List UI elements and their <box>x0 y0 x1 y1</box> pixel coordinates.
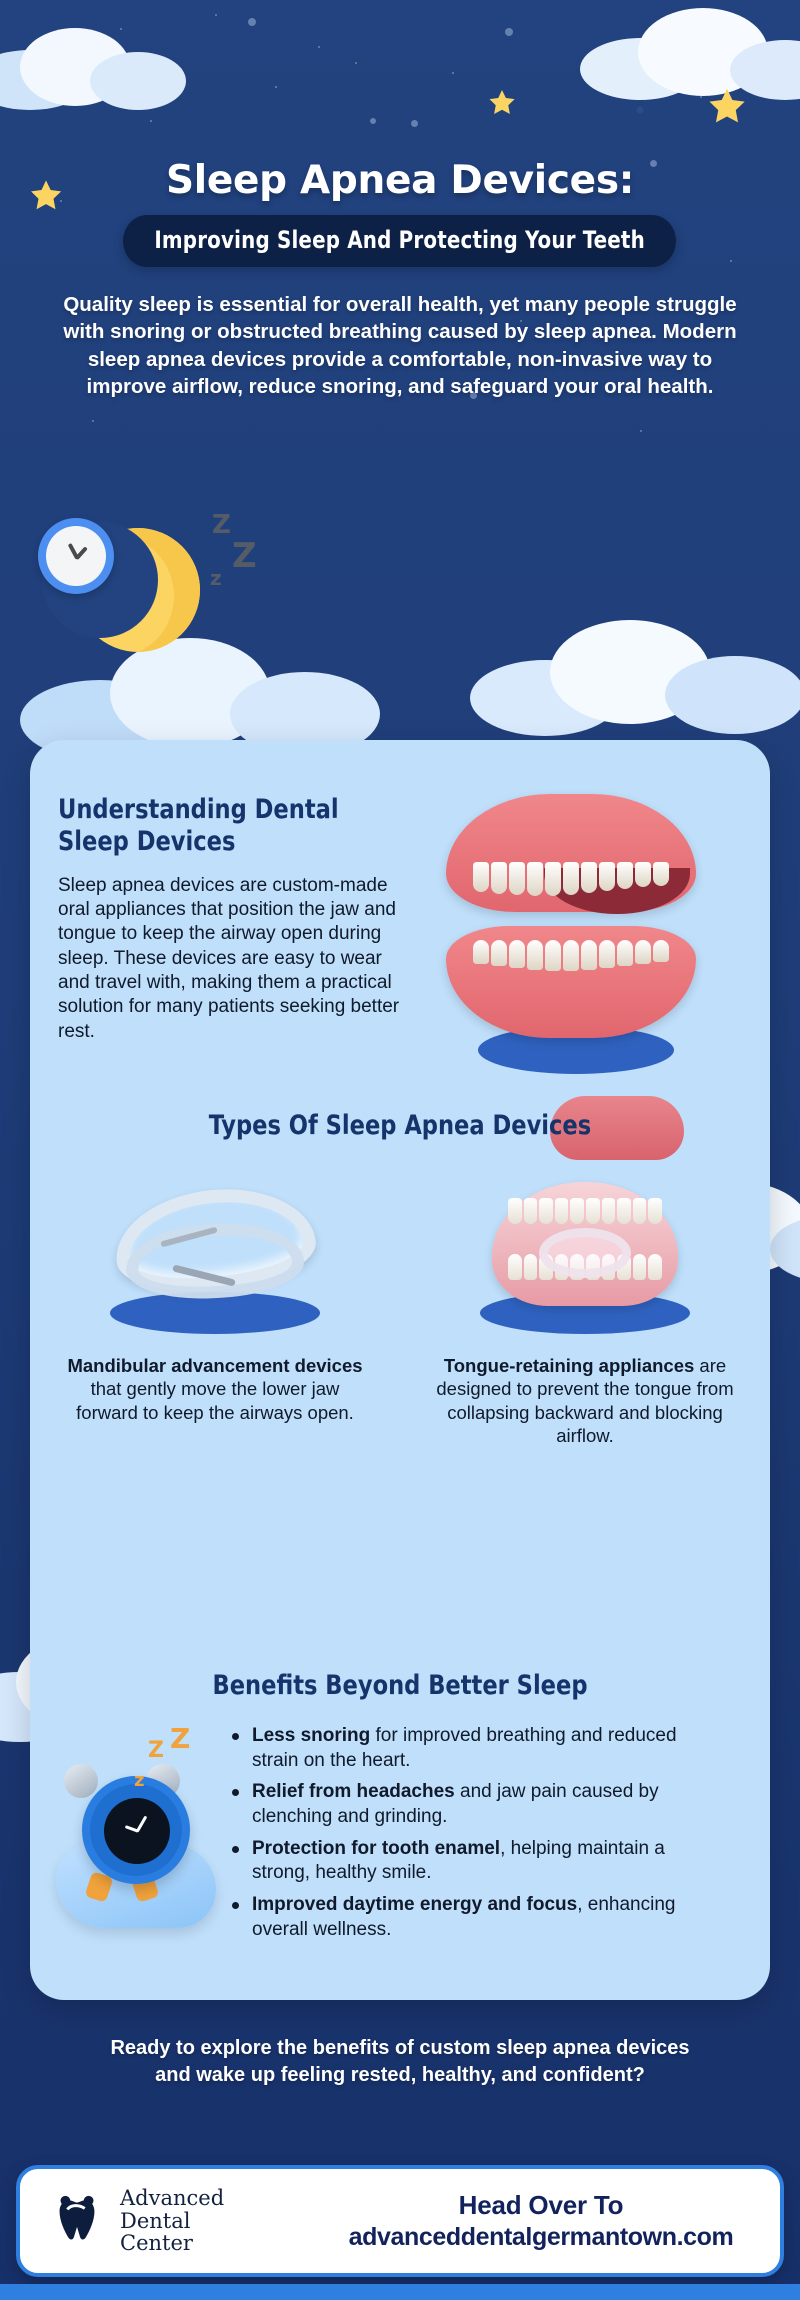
website-url[interactable]: advanceddentalgermantown.com <box>320 2223 762 2252</box>
page-title: Sleep Apnea Devices: <box>0 158 800 203</box>
sleep-z-small-icon: Z <box>212 510 231 540</box>
benefit-z-tiny-icon: z <box>134 1770 144 1791</box>
understanding-heading-line2: Sleep Devices <box>58 826 384 858</box>
cta-line2: and wake up feeling rested, healthy, and… <box>0 2062 800 2089</box>
sleep-z-tiny-icon: z <box>210 566 222 590</box>
benefit-z-large-icon: Z <box>170 1722 190 1755</box>
footer-bar[interactable]: Advanced Dental Center Head Over To adva… <box>16 2165 784 2277</box>
logo-line-2: Dental <box>120 2210 224 2232</box>
header: Sleep Apnea Devices: Improving Sleep And… <box>0 0 800 400</box>
brand-logo-text: Advanced Dental Center <box>120 2187 224 2254</box>
type-caption-rest-mandibular: that gently move the lower jaw forward t… <box>76 1378 354 1422</box>
sleep-z-large-icon: Z <box>232 536 257 576</box>
head-over-to-label: Head Over To <box>320 2190 762 2221</box>
types-heading: Types Of Sleep Apnea Devices <box>56 1110 744 1142</box>
type-caption-bold-mandibular: Mandibular advancement devices <box>67 1355 362 1376</box>
infographic-page: Sleep Apnea Devices: Improving Sleep And… <box>0 0 800 2300</box>
cta-text: Ready to explore the benefits of custom … <box>0 2035 800 2089</box>
type-caption-tongue-retaining: Tongue-retaining appliances are designed… <box>434 1354 736 1447</box>
cta-website-block[interactable]: Head Over To advanceddentalgermantown.co… <box>320 2190 780 2252</box>
benefit-bold-2: Relief from headaches <box>252 1781 455 1802</box>
benefit-item: Relief from headaches and jaw pain cause… <box>230 1780 724 1829</box>
types-grid: Mandibular advancement devices that gent… <box>30 1160 770 1447</box>
brand-logo: Advanced Dental Center <box>20 2187 320 2254</box>
logo-line-1: Advanced <box>120 2187 224 2209</box>
bottom-strip <box>0 2284 800 2300</box>
benefit-item: Improved daytime energy and focus, enhan… <box>230 1893 724 1942</box>
type-card-mandibular: Mandibular advancement devices that gent… <box>30 1160 400 1447</box>
type-caption-bold-tongue: Tongue-retaining appliances <box>444 1355 694 1376</box>
mandibular-advancement-device-image <box>64 1160 366 1340</box>
alarm-clock-pillow-image: Z Z z <box>30 1720 230 1940</box>
logo-line-3: Center <box>120 2232 224 2254</box>
intro-paragraph: Quality sleep is essential for overall h… <box>55 291 745 400</box>
main-content-card: Understanding Dental Sleep Devices Sleep… <box>30 740 770 2000</box>
type-caption-mandibular: Mandibular advancement devices that gent… <box>64 1354 366 1424</box>
benefits-body: Z Z z Less snoring for improved breathin… <box>30 1720 770 1950</box>
dental-model-mouth-image <box>400 776 740 1096</box>
benefit-item: Less snoring for improved breathing and … <box>230 1724 724 1773</box>
cloud-mid-right <box>470 610 800 730</box>
understanding-body: Sleep apnea devices are custom-made oral… <box>58 874 408 1044</box>
benefit-bold-4: Improved daytime energy and focus <box>252 1894 577 1915</box>
benefit-bold-1: Less snoring <box>252 1725 370 1746</box>
benefits-section-heading-wrap: Benefits Beyond Better Sleep <box>30 1670 770 1702</box>
moon-clock-illustration: Z Z z <box>20 510 320 730</box>
benefit-bold-3: Protection for tooth enamel <box>252 1838 500 1859</box>
advanced-dental-center-logo-icon <box>46 2190 108 2252</box>
cta-line1: Ready to explore the benefits of custom … <box>0 2035 800 2062</box>
benefit-item: Protection for tooth enamel, helping mai… <box>230 1837 724 1886</box>
benefit-z-small-icon: Z <box>148 1738 164 1763</box>
understanding-section: Understanding Dental Sleep Devices Sleep… <box>30 770 770 1100</box>
understanding-heading-line1: Understanding Dental <box>58 794 384 826</box>
benefits-heading: Benefits Beyond Better Sleep <box>56 1670 744 1702</box>
tongue-retaining-appliance-image <box>434 1160 736 1340</box>
page-subtitle: Improving Sleep And Protecting Your Teet… <box>123 215 676 267</box>
alarm-clock-icon <box>38 518 114 594</box>
types-section-heading-wrap: Types Of Sleep Apnea Devices <box>30 1110 770 1142</box>
benefits-list: Less snoring for improved breathing and … <box>230 1720 750 1950</box>
type-card-tongue-retaining: Tongue-retaining appliances are designed… <box>400 1160 770 1447</box>
